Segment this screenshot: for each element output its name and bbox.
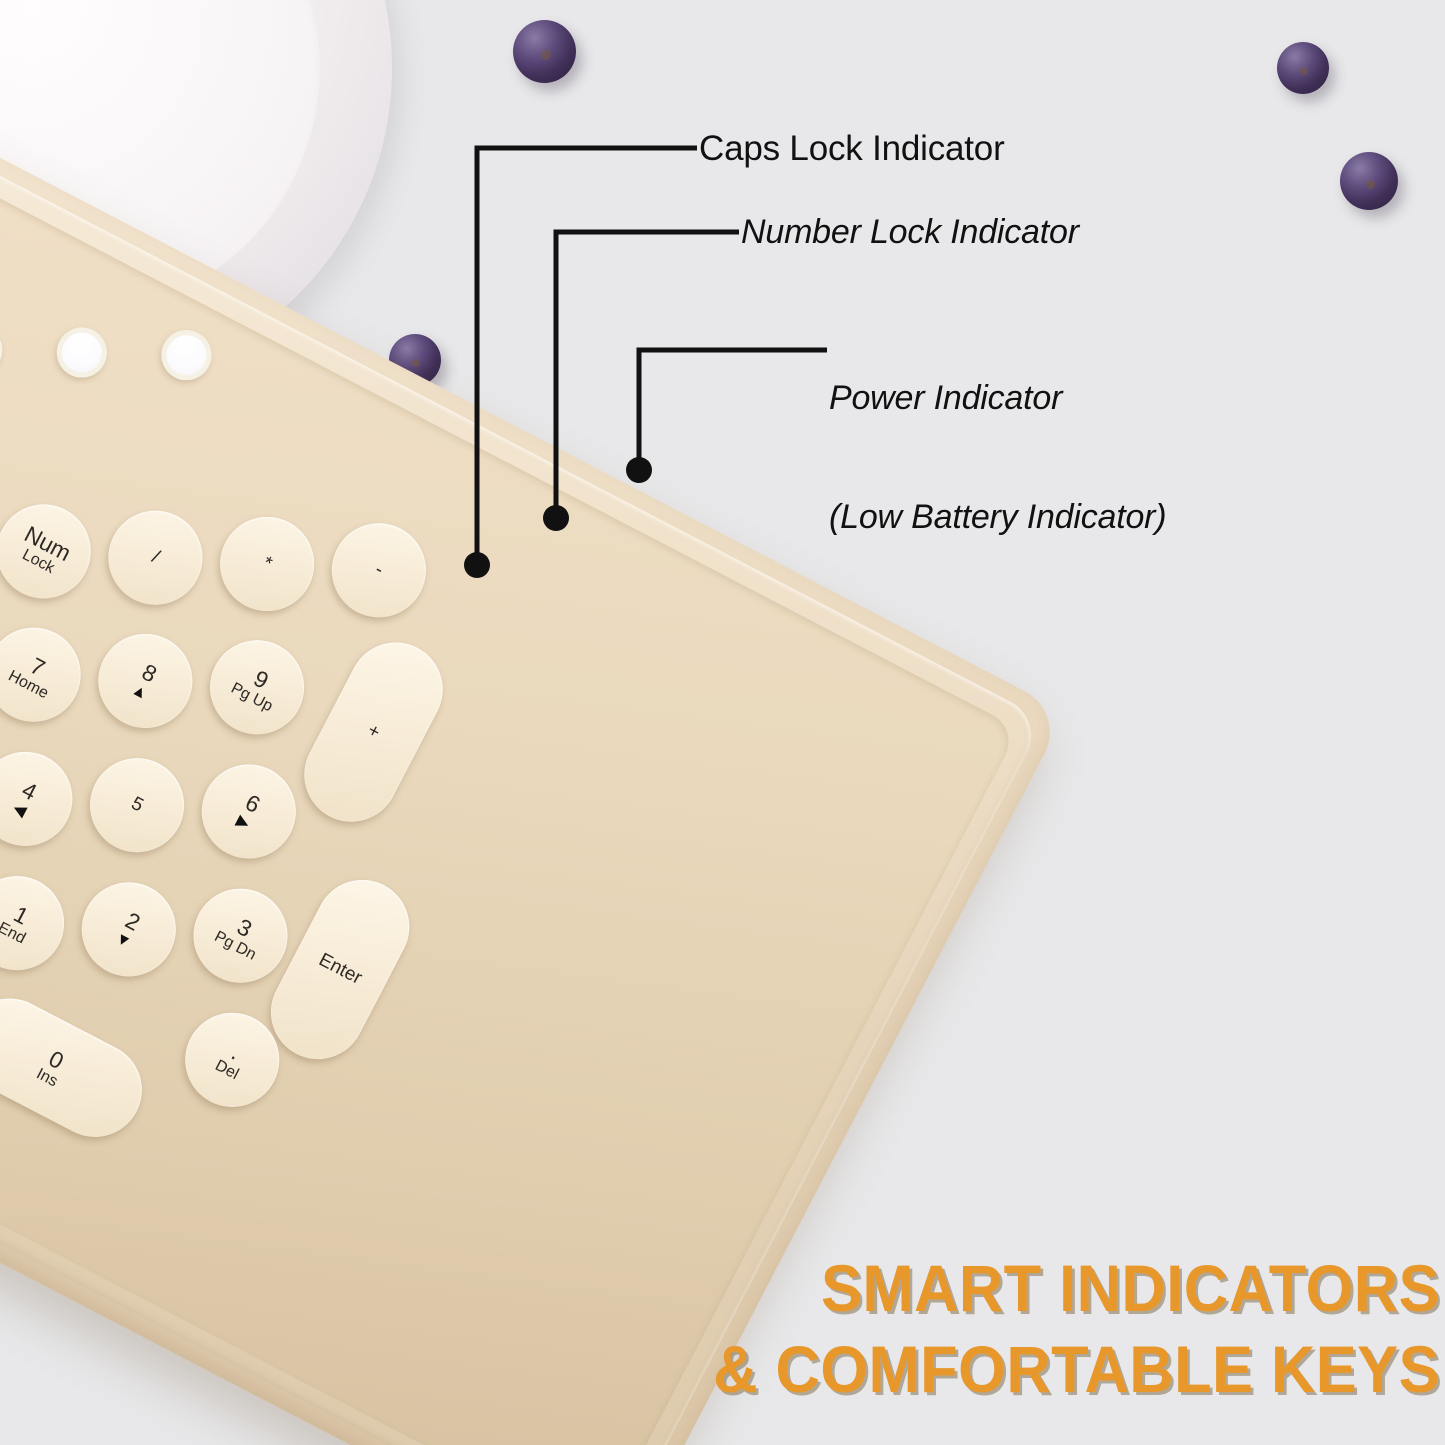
key-divide[interactable]: / [92, 494, 219, 621]
key-minus[interactable]: - [315, 507, 442, 634]
headline-line-2: & COMFORTABLE KEYS [677, 1329, 1440, 1410]
key-label: 5 [128, 794, 147, 817]
key-label: 4◀ [10, 778, 40, 820]
key-label: - [371, 560, 386, 581]
key-num2[interactable]: 2▼ [65, 866, 192, 993]
annotation-power-line2: (Low Battery Indicator) [829, 498, 1166, 538]
key-label: .Del [212, 1036, 253, 1084]
key-label: + [364, 721, 383, 744]
key-label: / [148, 548, 162, 568]
key-multiply[interactable]: * [204, 501, 331, 628]
pie-slice-body [0, 0, 52, 8]
annotation-power-label: Power Indicator (Low Battery Indicator) [829, 299, 1166, 617]
key-label: 8▲ [129, 659, 162, 703]
caps-lock-led [0, 316, 11, 383]
key-num0[interactable]: 0Ins [0, 982, 158, 1153]
annotation-number-lock-label: Number Lock Indicator [741, 213, 1079, 252]
key-label: NumLock [12, 522, 74, 582]
blueberry [1340, 152, 1398, 210]
annotation-caps-lock-label: Caps Lock Indicator [699, 129, 1005, 169]
key-num5[interactable]: 5 [74, 742, 201, 869]
num-lock-led [48, 319, 115, 386]
blueberry [1277, 42, 1329, 94]
key-num-lock[interactable]: NumLock [0, 488, 107, 615]
key-plus[interactable]: + [288, 626, 459, 838]
key-num7[interactable]: 7Home [0, 611, 97, 738]
meringue-pie-slice [0, 0, 67, 38]
key-num1[interactable]: 1End [0, 860, 80, 987]
annotation-power-line1: Power Indicator [829, 379, 1166, 419]
key-num6[interactable]: 6▶ [185, 748, 312, 875]
product-image-canvas: Prt Sc Scr Lk Pause Insert Home Pg Up De… [0, 0, 1445, 1445]
headline: SMART INDICATORS & COMFORTABLE KEYS [677, 1248, 1440, 1409]
keyboard: Prt Sc Scr Lk Pause Insert Home Pg Up De… [0, 52, 1066, 1445]
key-label: * [259, 553, 275, 574]
key-label: Enter [315, 950, 364, 989]
blueberry [513, 20, 576, 83]
key-label: 1End [0, 898, 39, 948]
key-label: 2▼ [112, 907, 145, 951]
key-label: 3Pg Dn [211, 907, 270, 965]
headline-line-1: SMART INDICATORS [677, 1248, 1440, 1329]
key-label: 6▶ [234, 790, 264, 832]
power-led [153, 321, 220, 388]
key-num4[interactable]: 4◀ [0, 736, 89, 863]
key-num9[interactable]: 9Pg Up [194, 624, 321, 751]
key-label: 0Ins [33, 1044, 71, 1091]
key-enter-numpad[interactable]: Enter [255, 864, 426, 1076]
key-label: 9Pg Up [228, 658, 287, 716]
key-num8[interactable]: 8▲ [82, 618, 209, 745]
key-label: 7Home [5, 646, 62, 703]
